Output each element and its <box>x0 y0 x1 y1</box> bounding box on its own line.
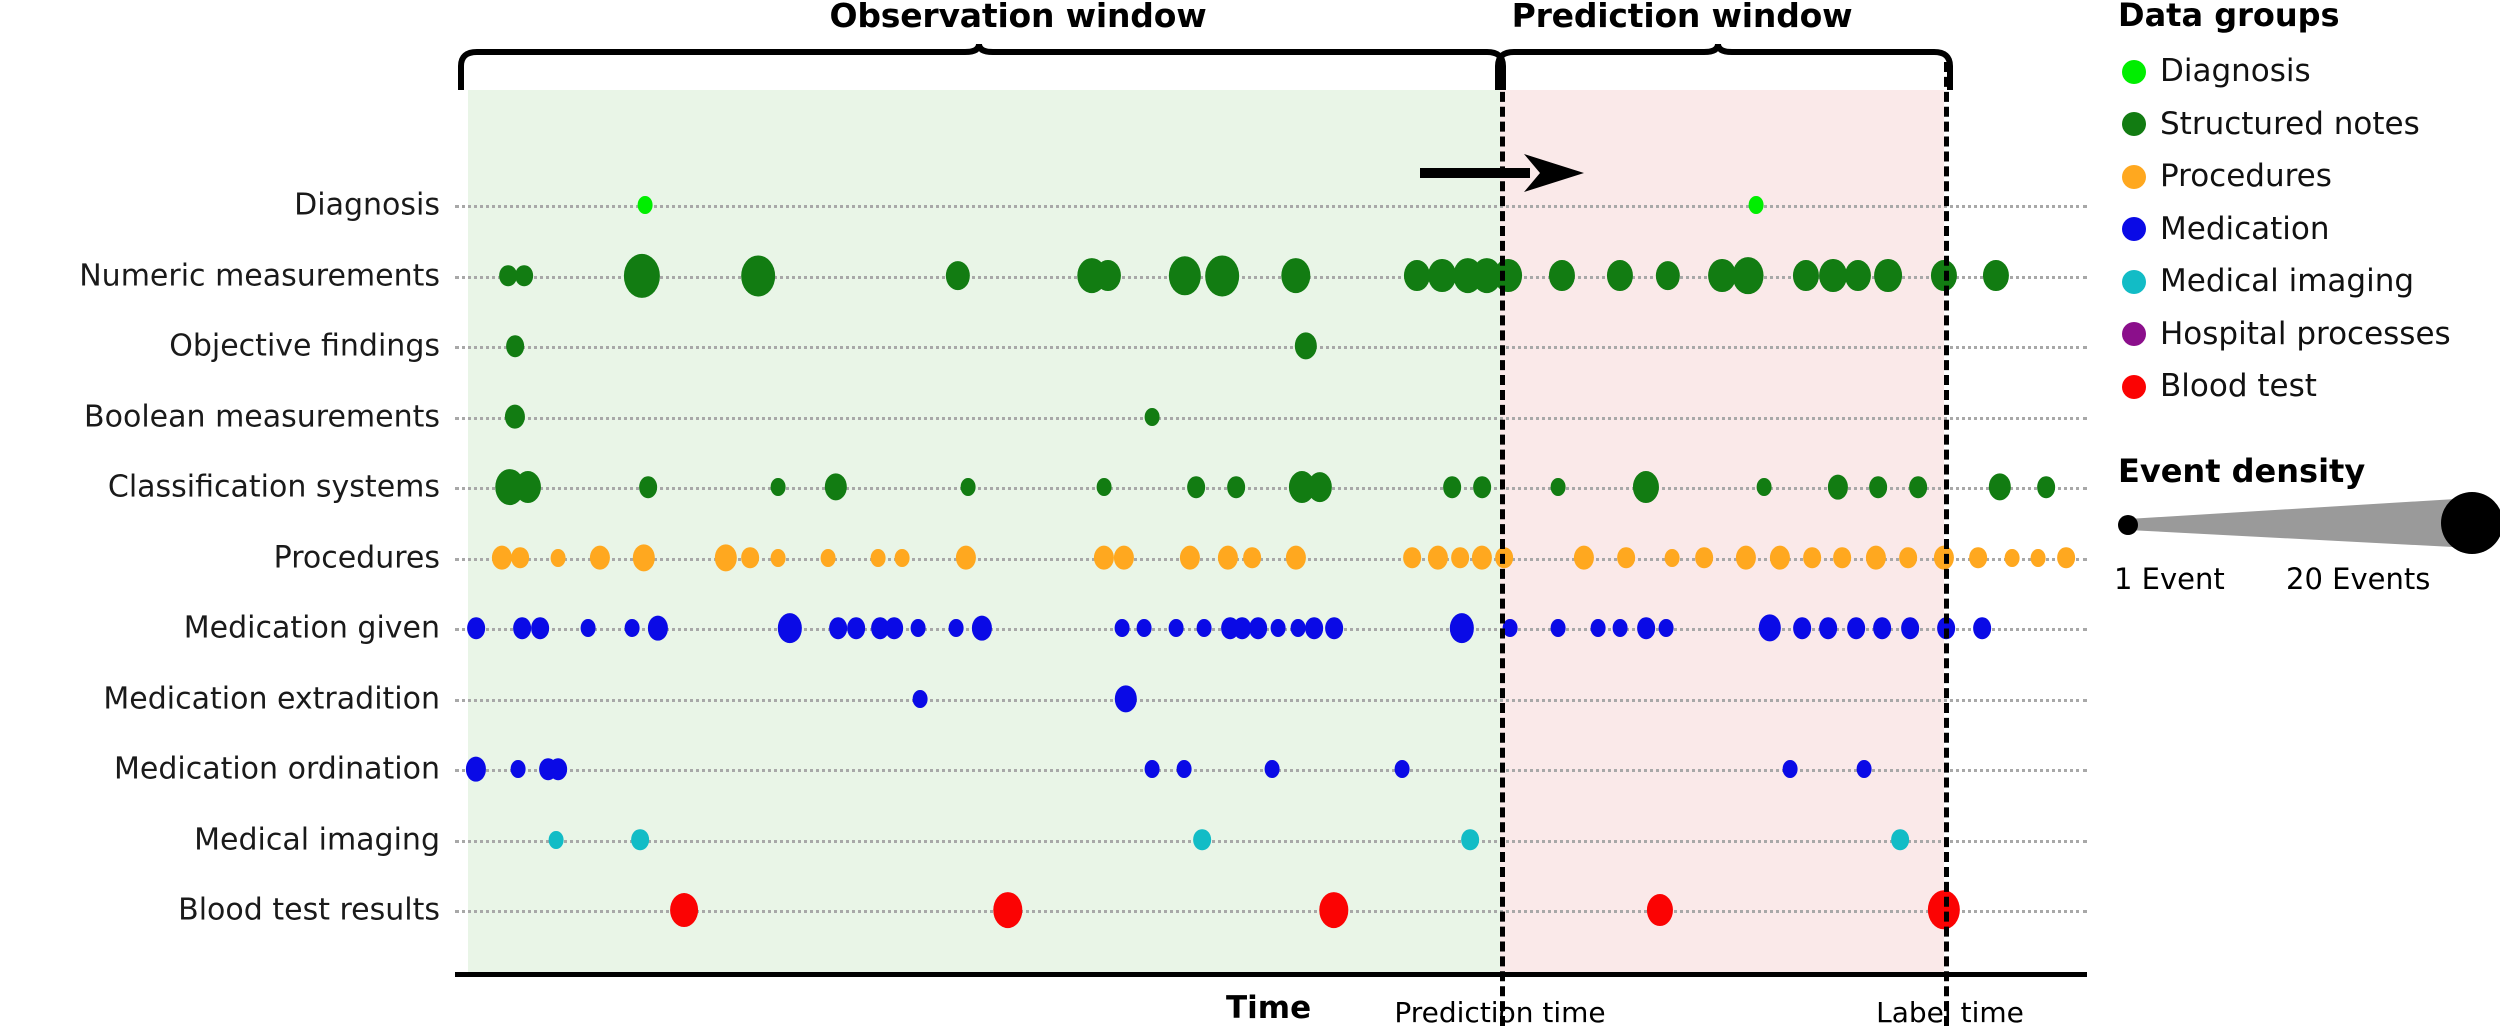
event-marker <box>1281 258 1310 294</box>
event-marker <box>2005 548 2020 566</box>
legend-item-label: Medication <box>2160 214 2330 245</box>
event-marker <box>1617 547 1635 569</box>
event-marker <box>885 617 903 639</box>
data-groups-legend-title: Data groups <box>2118 0 2340 34</box>
event-marker <box>631 829 649 851</box>
event-marker <box>1404 260 1430 292</box>
event-marker <box>1969 547 1987 569</box>
event-marker <box>1828 475 1848 500</box>
legend-swatch-dot-icon <box>2122 60 2146 84</box>
event-marker <box>1757 478 1772 496</box>
event-marker <box>2057 547 2075 569</box>
event-marker <box>821 548 836 566</box>
event-marker <box>911 619 926 637</box>
event-marker <box>1094 545 1114 570</box>
event-marker <box>946 261 970 291</box>
event-marker <box>1891 829 1909 851</box>
event-marker <box>1607 260 1633 292</box>
event-marker <box>1803 547 1821 569</box>
event-marker <box>1227 476 1245 498</box>
event-marker <box>1873 617 1891 639</box>
event-marker <box>549 830 564 848</box>
event-marker <box>625 619 640 637</box>
legend-swatch-dot-icon <box>2122 112 2146 136</box>
row-label-numeric-measurements: Numeric measurements <box>0 258 440 293</box>
event-marker <box>1989 473 2011 500</box>
event-marker <box>1574 545 1594 570</box>
event-marker <box>1218 545 1238 570</box>
legend-swatch-dot-icon <box>2122 322 2146 346</box>
event-marker <box>1845 260 1871 292</box>
row-label-medication-ordination: Medication ordination <box>0 752 440 787</box>
legend-item-medical-imaging[interactable]: Medical imaging <box>2122 266 2414 297</box>
event-marker <box>1633 471 1659 503</box>
event-marker <box>1647 894 1673 926</box>
event-marker <box>771 548 786 566</box>
event-marker <box>1197 619 1212 637</box>
row-label-procedures: Procedures <box>0 540 440 575</box>
row-label-medication-given: Medication given <box>0 611 440 646</box>
x-axis-line <box>455 972 2087 977</box>
row-label-objective-findings: Objective findings <box>0 329 440 364</box>
event-marker <box>648 616 668 641</box>
legend-swatch-dot-icon <box>2122 270 2146 294</box>
event-marker <box>670 893 698 927</box>
gridline <box>455 346 2087 349</box>
event-marker <box>638 196 653 214</box>
event-marker <box>1733 257 1764 295</box>
event-marker <box>1451 547 1469 569</box>
legend-item-procedures[interactable]: Procedures <box>2122 161 2332 192</box>
event-marker <box>1736 545 1756 570</box>
event-marker <box>1549 260 1575 292</box>
prediction-window-title: Prediction window <box>1472 0 1892 35</box>
legend-item-blood-test[interactable]: Blood test <box>2122 371 2317 402</box>
event-marker <box>505 404 525 429</box>
event-marker <box>949 619 964 637</box>
event-marker <box>1847 617 1865 639</box>
event-marker <box>913 689 928 707</box>
event-marker <box>1899 547 1917 569</box>
row-label-medication-extradition: Medication extradition <box>0 681 440 716</box>
event-marker <box>1265 760 1280 778</box>
row-label-boolean-measurements: Boolean measurements <box>0 399 440 434</box>
event-marker <box>466 757 486 782</box>
event-marker <box>1793 260 1819 292</box>
event-marker <box>895 548 910 566</box>
event-marker <box>993 892 1022 928</box>
event-marker <box>1874 259 1902 293</box>
event-marker <box>1114 545 1134 570</box>
prediction-time-tick-label: Prediction time <box>1394 996 1605 1029</box>
event-marker <box>1461 829 1479 851</box>
event-marker <box>1472 545 1492 570</box>
event-marker <box>1291 619 1306 637</box>
event-marker <box>1551 619 1566 637</box>
event-marker <box>847 617 865 639</box>
event-marker <box>1443 476 1461 498</box>
event-density-legend-title: Event density <box>2118 452 2365 490</box>
event-marker <box>1551 478 1566 496</box>
event-marker <box>871 548 886 566</box>
event-marker <box>1866 545 1886 570</box>
event-marker <box>1137 619 1152 637</box>
event-marker <box>1097 478 1112 496</box>
event-marker <box>551 548 566 566</box>
event-marker <box>1909 476 1927 498</box>
event-marker <box>1901 617 1919 639</box>
gridline <box>455 840 2087 843</box>
x-axis-title: Time <box>1226 990 1311 1026</box>
event-marker <box>1450 613 1474 643</box>
event-marker <box>1659 619 1674 637</box>
legend-item-label: Structured notes <box>2160 109 2420 140</box>
event-marker <box>1695 547 1713 569</box>
event-marker <box>511 547 529 569</box>
observation-window-title: Observation window <box>518 0 1518 35</box>
event-marker <box>515 471 541 503</box>
legend-swatch-dot-icon <box>2122 375 2146 399</box>
prediction-window-brace <box>1492 44 1962 90</box>
event-marker <box>639 476 657 498</box>
legend-item-label: Procedures <box>2160 161 2332 192</box>
event-marker <box>1177 760 1192 778</box>
density-max-label: 20 Events <box>2286 562 2430 596</box>
event-marker <box>1494 259 1522 293</box>
event-marker <box>1665 548 1680 566</box>
event-marker <box>1656 261 1680 291</box>
event-marker <box>2037 476 2055 498</box>
gridline <box>455 910 2087 913</box>
event-marker <box>1793 617 1811 639</box>
event-marker <box>1180 545 1200 570</box>
event-marker <box>506 335 524 357</box>
gridline <box>455 699 2087 702</box>
event-marker <box>1770 545 1790 570</box>
event-marker <box>590 545 610 570</box>
event-marker <box>778 613 802 643</box>
event-marker <box>1973 617 1991 639</box>
event-marker <box>513 617 531 639</box>
legend-swatch-dot-icon <box>2122 217 2146 241</box>
event-marker <box>1145 760 1160 778</box>
event-marker <box>1115 619 1130 637</box>
event-marker <box>467 617 485 639</box>
event-marker <box>1169 619 1184 637</box>
event-marker <box>549 758 567 780</box>
event-marker <box>1819 617 1837 639</box>
event-marker <box>1591 619 1606 637</box>
legend-item-label: Medical imaging <box>2160 266 2414 297</box>
legend-item-diagnosis[interactable]: Diagnosis <box>2122 56 2311 87</box>
event-marker <box>1819 259 1847 293</box>
event-marker <box>492 545 512 570</box>
patient-timeline-figure: Observation window Prediction window Dia… <box>0 0 2500 1028</box>
gridline <box>455 417 2087 420</box>
event-marker <box>961 478 976 496</box>
event-marker <box>771 478 786 496</box>
event-marker <box>1187 476 1205 498</box>
event-marker <box>1325 617 1343 639</box>
event-marker <box>1308 472 1332 502</box>
event-marker <box>1403 547 1421 569</box>
legend-item-medication[interactable]: Medication <box>2122 214 2330 245</box>
legend-item-label: Blood test <box>2160 371 2317 402</box>
event-marker <box>1243 547 1261 569</box>
event-marker <box>1637 617 1655 639</box>
event-marker <box>531 617 549 639</box>
event-marker <box>1095 260 1121 292</box>
gridline <box>455 205 2087 208</box>
legend-item-label: Diagnosis <box>2160 56 2311 87</box>
event-marker <box>581 619 596 637</box>
event-density-wedge <box>2110 490 2500 560</box>
event-marker <box>1286 545 1306 570</box>
density-min-label: 1 Event <box>2114 562 2225 596</box>
event-marker <box>1271 619 1286 637</box>
prediction-time-line <box>1500 62 1505 1026</box>
event-marker <box>741 547 759 569</box>
event-marker <box>1869 476 1887 498</box>
legend-item-hospital-processes[interactable]: Hospital processes <box>2122 319 2451 350</box>
event-marker <box>515 265 533 287</box>
event-marker <box>1319 892 1348 928</box>
row-label-diagnosis: Diagnosis <box>0 188 440 223</box>
event-marker <box>1473 476 1491 498</box>
event-marker <box>511 760 526 778</box>
event-marker <box>829 617 847 639</box>
row-label-medical-imaging: Medical imaging <box>0 822 440 857</box>
event-marker <box>1249 617 1267 639</box>
event-marker <box>1749 196 1764 214</box>
event-marker <box>1205 255 1239 296</box>
event-marker <box>956 545 976 570</box>
legend-item-structured-notes[interactable]: Structured notes <box>2122 109 2420 140</box>
label-time-tick-label: Label time <box>1876 996 2024 1029</box>
label-time-line <box>1944 62 1949 1026</box>
event-marker <box>1857 760 1872 778</box>
event-marker <box>1305 617 1323 639</box>
row-label-blood-test-results: Blood test results <box>0 893 440 928</box>
legend-item-label: Hospital processes <box>2160 319 2451 350</box>
event-marker <box>1833 547 1851 569</box>
event-marker <box>972 616 992 641</box>
event-marker <box>1193 829 1211 851</box>
event-marker <box>1613 619 1628 637</box>
event-marker <box>1428 259 1456 293</box>
event-marker <box>1428 545 1448 570</box>
event-marker <box>1145 407 1160 425</box>
event-marker <box>1395 760 1410 778</box>
event-marker <box>1783 760 1798 778</box>
legend-swatch-dot-icon <box>2122 165 2146 189</box>
event-marker <box>1983 260 2009 292</box>
row-label-classification-systems: Classification systems <box>0 470 440 505</box>
observation-window-brace <box>455 44 1515 90</box>
event-marker <box>2031 548 2046 566</box>
event-marker <box>741 255 775 296</box>
